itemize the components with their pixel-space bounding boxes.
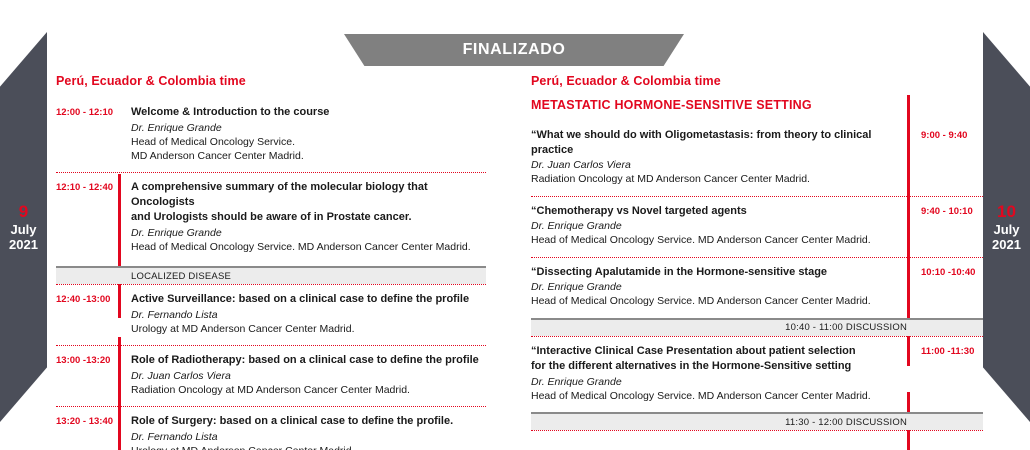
session-speaker: Dr. Juan Carlos Viera xyxy=(531,158,897,172)
session-row[interactable]: “Chemotherapy vs Novel targeted agents D… xyxy=(531,197,983,257)
agenda-page: FINALIZADO 9 July 2021 10 July 2021 Perú… xyxy=(0,0,1030,450)
discussion-bar-label: 10:40 - 11:00 DISCUSSION xyxy=(531,322,907,333)
session-speaker: Dr. Fernando Lista xyxy=(131,430,486,444)
session-time: 13:20 - 13:40 xyxy=(56,414,118,450)
session-body: Welcome & Introduction to the course Dr.… xyxy=(118,105,486,163)
agenda-column-day-two: Perú, Ecuador & Colombia time METASTATIC… xyxy=(531,74,983,431)
session-speaker: Dr. Fernando Lista xyxy=(131,308,486,322)
session-title: “Chemotherapy vs Novel targeted agents xyxy=(531,204,897,219)
session-time: 10:10 -10:40 xyxy=(907,265,983,309)
session-row[interactable]: “Dissecting Apalutamide in the Hormone-s… xyxy=(531,258,983,318)
session-speaker: Dr. Juan Carlos Viera xyxy=(131,369,486,383)
session-speaker: Dr. Enrique Grande xyxy=(131,226,486,240)
session-row[interactable]: “Interactive Clinical Case Presentation … xyxy=(531,337,983,413)
session-affiliation: Head of Medical Oncology Service. xyxy=(131,135,486,149)
status-banner-label: FINALIZADO xyxy=(463,41,566,59)
session-title: A comprehensive summary of the molecular… xyxy=(131,180,486,209)
session-affiliation: Radiation Oncology at MD Anderson Cancer… xyxy=(531,172,897,186)
session-title: Active Surveillance: based on a clinical… xyxy=(131,292,486,307)
session-affiliation: Head of Medical Oncology Service. MD And… xyxy=(531,294,897,308)
date-tab-day-number: 9 xyxy=(19,202,28,222)
session-time: 9:40 - 10:10 xyxy=(907,204,983,248)
date-tab-month-label: July xyxy=(993,222,1019,237)
session-body: Active Surveillance: based on a clinical… xyxy=(118,292,486,336)
session-affiliation: Head of Medical Oncology Service. MD And… xyxy=(131,240,486,254)
session-time: 11:00 -11:30 xyxy=(907,344,983,404)
timezone-heading: Perú, Ecuador & Colombia time xyxy=(56,74,486,88)
session-title: for the different alternatives in the Ho… xyxy=(531,359,897,374)
discussion-bar: 10:40 - 11:00 DISCUSSION xyxy=(531,318,983,336)
session-body: Role of Surgery: based on a clinical cas… xyxy=(118,414,486,450)
session-affiliation: Head of Medical Oncology Service. MD And… xyxy=(531,233,897,247)
session-body: “What we should do with Oligometastasis:… xyxy=(531,128,907,187)
session-time: 12:10 - 12:40 xyxy=(56,180,118,254)
session-title: Role of Radiotherapy: based on a clinica… xyxy=(131,353,486,368)
session-title: “Interactive Clinical Case Presentation … xyxy=(531,344,897,359)
date-tab-year-label: 2021 xyxy=(9,237,38,252)
date-tab-day-number: 10 xyxy=(997,202,1016,222)
session-title: Role of Surgery: based on a clinical cas… xyxy=(131,414,486,429)
setting-heading: METASTATIC HORMONE-SENSITIVE SETTING xyxy=(531,98,983,112)
date-tab-day-one[interactable]: 9 July 2021 xyxy=(0,32,47,422)
session-title: “Dissecting Apalutamide in the Hormone-s… xyxy=(531,265,897,280)
discussion-bar: 11:30 - 12:00 DISCUSSION xyxy=(531,412,983,430)
section-bar-label: LOCALIZED DISEASE xyxy=(56,271,231,282)
date-tab-month-label: July xyxy=(10,222,36,237)
session-speaker: Dr. Enrique Grande xyxy=(531,375,897,389)
session-body: “Dissecting Apalutamide in the Hormone-s… xyxy=(531,265,907,309)
session-speaker: Dr. Enrique Grande xyxy=(531,280,897,294)
session-body: Role of Radiotherapy: based on a clinica… xyxy=(118,353,486,397)
session-row[interactable]: “What we should do with Oligometastasis:… xyxy=(531,121,983,196)
section-bar-localized-disease: LOCALIZED DISEASE xyxy=(56,266,486,284)
status-banner: FINALIZADO xyxy=(344,34,684,66)
session-row[interactable]: 12:40 -13:00 Active Surveillance: based … xyxy=(56,285,486,345)
session-time: 13:00 -13:20 xyxy=(56,353,118,397)
session-row[interactable]: 13:20 - 13:40 Role of Surgery: based on … xyxy=(56,407,486,450)
session-title: Welcome & Introduction to the course xyxy=(131,105,486,120)
session-title: “What we should do with Oligometastasis:… xyxy=(531,128,897,157)
session-title: and Urologists should be aware of in Pro… xyxy=(131,210,486,225)
session-body: “Chemotherapy vs Novel targeted agents D… xyxy=(531,204,907,248)
session-speaker: Dr. Enrique Grande xyxy=(131,121,486,135)
session-affiliation: Radiation Oncology at MD Anderson Cancer… xyxy=(131,383,486,397)
session-body: A comprehensive summary of the molecular… xyxy=(118,180,486,254)
session-affiliation: MD Anderson Cancer Center Madrid. xyxy=(131,149,486,163)
session-row[interactable]: 12:00 - 12:10 Welcome & Introduction to … xyxy=(56,98,486,172)
session-affiliation: Urology at MD Anderson Cancer Center Mad… xyxy=(131,322,486,336)
agenda-column-day-one: Perú, Ecuador & Colombia time 12:00 - 12… xyxy=(56,74,486,450)
session-affiliation: Urology at MD Anderson Cancer Center Mad… xyxy=(131,444,486,450)
session-time: 9:00 - 9:40 xyxy=(907,128,983,187)
session-speaker: Dr. Enrique Grande xyxy=(531,219,897,233)
session-body: “Interactive Clinical Case Presentation … xyxy=(531,344,907,404)
row-separator xyxy=(531,430,983,431)
session-row[interactable]: 13:00 -13:20 Role of Radiotherapy: based… xyxy=(56,346,486,406)
timezone-heading: Perú, Ecuador & Colombia time xyxy=(531,74,983,88)
date-tab-year-label: 2021 xyxy=(992,237,1021,252)
date-tab-day-two[interactable]: 10 July 2021 xyxy=(983,32,1030,422)
session-row[interactable]: 12:10 - 12:40 A comprehensive summary of… xyxy=(56,173,486,263)
session-affiliation: Head of Medical Oncology Service. MD And… xyxy=(531,389,897,403)
discussion-bar-label: 11:30 - 12:00 DISCUSSION xyxy=(531,417,907,428)
session-time: 12:00 - 12:10 xyxy=(56,105,118,163)
session-time: 12:40 -13:00 xyxy=(56,292,118,336)
